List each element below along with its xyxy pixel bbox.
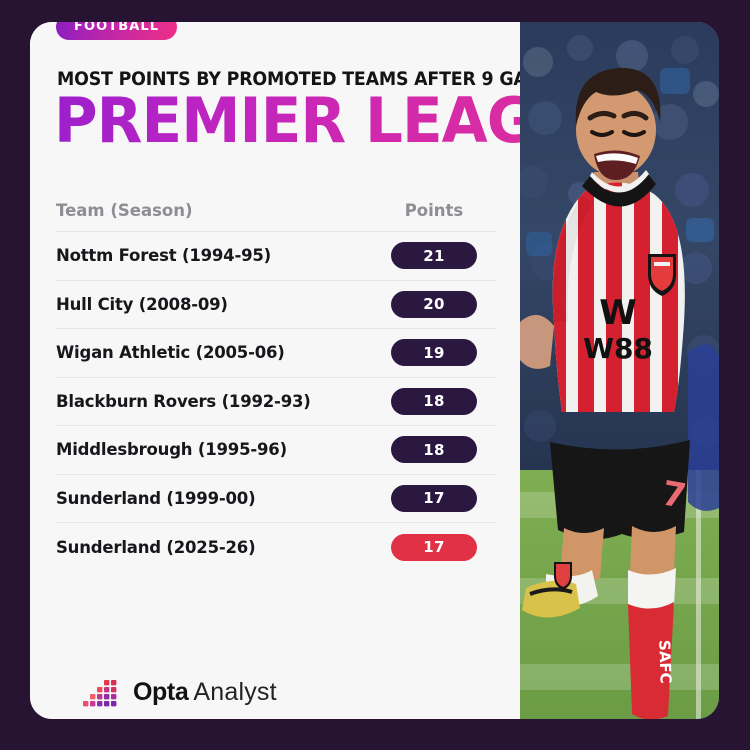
svg-text:W88: W88 — [583, 332, 653, 365]
svg-text:W: W — [599, 293, 637, 333]
opta-staircase-icon — [82, 674, 124, 708]
category-badge-wrap: FOOTBALL — [56, 22, 177, 40]
table-row: Middlesbrough (1995-96)18 — [56, 426, 496, 475]
table-row: Sunderland (1999-00)17 — [56, 475, 496, 524]
cell-team-season: Wigan Athletic (2005-06) — [56, 343, 372, 362]
table-row: Blackburn Rovers (1992-93)18 — [56, 378, 496, 427]
points-pill: 18 — [391, 436, 477, 463]
cell-points: 21 — [372, 242, 496, 269]
cell-team-season: Middlesbrough (1995-96) — [56, 440, 372, 459]
infographic-root: MOST POINTS BY PROMOTED TEAMS AFTER 9 GA… — [0, 0, 750, 750]
cell-team-season: Sunderland (2025-26) — [56, 538, 372, 557]
points-table: Team (Season) Points Nottm Forest (1994-… — [56, 190, 496, 572]
cell-points: 20 — [372, 291, 496, 318]
points-pill: 18 — [391, 388, 477, 415]
category-badge[interactable]: FOOTBALL — [56, 22, 177, 40]
table-header-row: Team (Season) Points — [56, 190, 496, 232]
table-row: Hull City (2008-09)20 — [56, 281, 496, 330]
points-pill-highlighted: 17 — [391, 534, 477, 561]
cell-points: 18 — [372, 388, 496, 415]
points-pill: 21 — [391, 242, 477, 269]
column-header-points: Points — [372, 201, 496, 220]
opta-analyst-logo[interactable]: OptaAnalyst — [82, 674, 277, 708]
svg-text:SAFC: SAFC — [655, 640, 675, 684]
content-card: MOST POINTS BY PROMOTED TEAMS AFTER 9 GA… — [30, 22, 719, 719]
column-header-team: Team (Season) — [56, 201, 372, 220]
table-row: Sunderland (2025-26)17 — [56, 523, 496, 572]
points-pill: 20 — [391, 291, 477, 318]
player-photo: W W88 — [520, 22, 719, 719]
cell-team-season: Blackburn Rovers (1992-93) — [56, 392, 372, 411]
cell-points: 17 — [372, 534, 496, 561]
cell-team-season: Hull City (2008-09) — [56, 295, 372, 314]
points-pill: 17 — [391, 485, 477, 512]
table-body: Nottm Forest (1994-95)21Hull City (2008-… — [56, 232, 496, 572]
logo-brand-opta: Opta — [133, 678, 188, 706]
cell-team-season: Sunderland (1999-00) — [56, 489, 372, 508]
points-pill: 19 — [391, 339, 477, 366]
table-row: Nottm Forest (1994-95)21 — [56, 232, 496, 281]
logo-brand-analyst: Analyst — [193, 678, 276, 706]
cell-points: 19 — [372, 339, 496, 366]
cell-points: 18 — [372, 436, 496, 463]
cell-team-season: Nottm Forest (1994-95) — [56, 246, 372, 265]
player-photo-illustration: W W88 — [520, 22, 719, 719]
cell-points: 17 — [372, 485, 496, 512]
table-row: Wigan Athletic (2005-06)19 — [56, 329, 496, 378]
left-content-panel: MOST POINTS BY PROMOTED TEAMS AFTER 9 GA… — [30, 22, 520, 719]
logo-wordmark: OptaAnalyst — [133, 680, 277, 705]
